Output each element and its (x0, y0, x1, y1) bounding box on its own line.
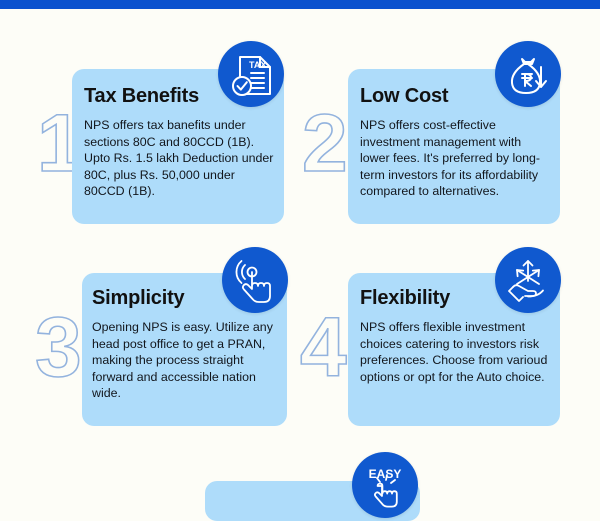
svg-text:TAX: TAX (249, 60, 266, 70)
card-body-low-cost: NPS offers cost-effective investment man… (360, 117, 552, 200)
card-title-simplicity: Simplicity (92, 287, 184, 310)
card-title-tax-benefits: Tax Benefits (84, 85, 199, 108)
tax-document-icon: TAX (218, 41, 284, 107)
tap-hand-icon (222, 247, 288, 313)
svg-text:EASY: EASY (369, 467, 402, 481)
card-body-tax-benefits: NPS offers tax banefits under sections 8… (84, 117, 274, 200)
card-number-3: 3 (35, 305, 82, 389)
infographic-canvas: 1 Tax Benefits NPS offers tax banefits u… (0, 9, 600, 491)
card-number-4: 4 (300, 305, 347, 389)
easy-click-hand-icon: EASY (352, 452, 418, 518)
card-body-flexibility: NPS offers flexible investment choices c… (360, 319, 554, 385)
money-bag-down-arrow-icon (495, 41, 561, 107)
card-body-simplicity: Opening NPS is easy. Utilize any head po… (92, 319, 278, 402)
card-title-flexibility: Flexibility (360, 287, 450, 310)
hand-multi-arrow-icon (495, 247, 561, 313)
card-title-low-cost: Low Cost (360, 85, 448, 108)
top-accent-bar (0, 0, 600, 9)
card-number-2: 2 (302, 103, 348, 185)
